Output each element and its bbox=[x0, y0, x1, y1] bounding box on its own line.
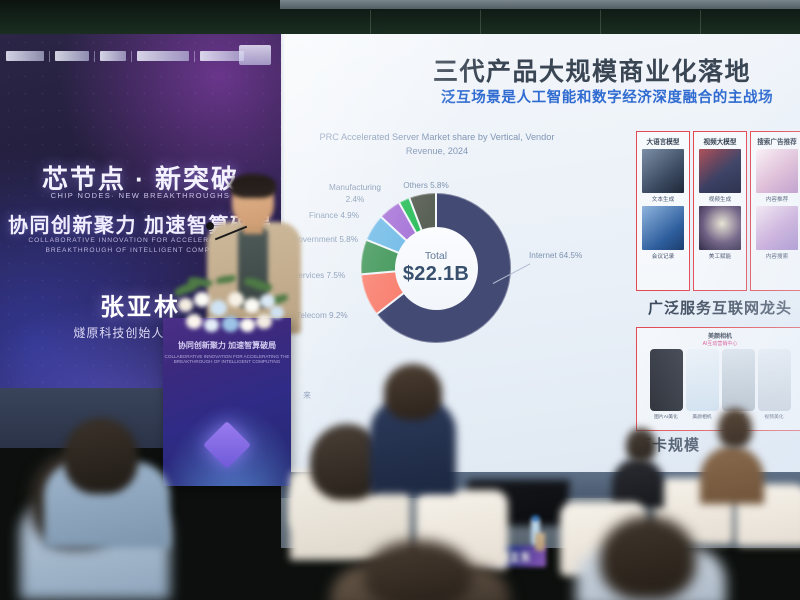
guest-head bbox=[718, 408, 752, 448]
paper-cup bbox=[535, 533, 545, 551]
bottle-cap bbox=[532, 516, 539, 521]
projection-screen: 三代产品大规模商业化落地 泛互场景是人工智能和数字经济深度融合的主战场 PRC … bbox=[281, 34, 800, 472]
partner-logo-1-icon bbox=[6, 51, 44, 61]
logo-divider bbox=[49, 51, 50, 62]
partner-logo-5-icon bbox=[200, 51, 244, 61]
microphone-icon bbox=[206, 222, 214, 230]
ceiling-beam bbox=[280, 0, 800, 9]
logo-divider bbox=[131, 51, 132, 62]
speaker-hair bbox=[230, 174, 276, 198]
ceiling-seam bbox=[480, 10, 481, 35]
guest-torso bbox=[700, 446, 764, 504]
podium-theme-en: COLLABORATIVE INNOVATION FOR ACCELERATIN… bbox=[163, 354, 291, 364]
flower-arrangement bbox=[172, 278, 290, 340]
conference-photo-scene: 芯节点 · 新突破 CHIP NODES· NEW BREAKTHROUGHS … bbox=[0, 0, 800, 600]
logo-divider bbox=[94, 51, 95, 62]
podium-theme-cn: 协同创新聚力 加速智算破局 bbox=[163, 340, 291, 351]
audience-head bbox=[64, 418, 138, 494]
partner-logo-4-icon bbox=[137, 51, 189, 61]
guest-head bbox=[626, 428, 656, 462]
podium: 协同创新聚力 加速智算破局 COLLABORATIVE INNOVATION F… bbox=[163, 318, 291, 486]
foreground-person-head bbox=[600, 516, 696, 600]
partner-logo-3-icon bbox=[100, 51, 126, 61]
partner-logo-row bbox=[6, 48, 246, 64]
ceiling-seam bbox=[600, 10, 601, 35]
ceiling-seam bbox=[700, 10, 701, 35]
audience-head bbox=[384, 364, 442, 420]
partner-logo-2-icon bbox=[55, 51, 89, 61]
ceiling-seam bbox=[370, 10, 371, 35]
guest-torso bbox=[612, 458, 664, 508]
screen-glare bbox=[281, 34, 800, 472]
logo-divider bbox=[194, 51, 195, 62]
waic-event-logo-icon bbox=[239, 45, 271, 65]
